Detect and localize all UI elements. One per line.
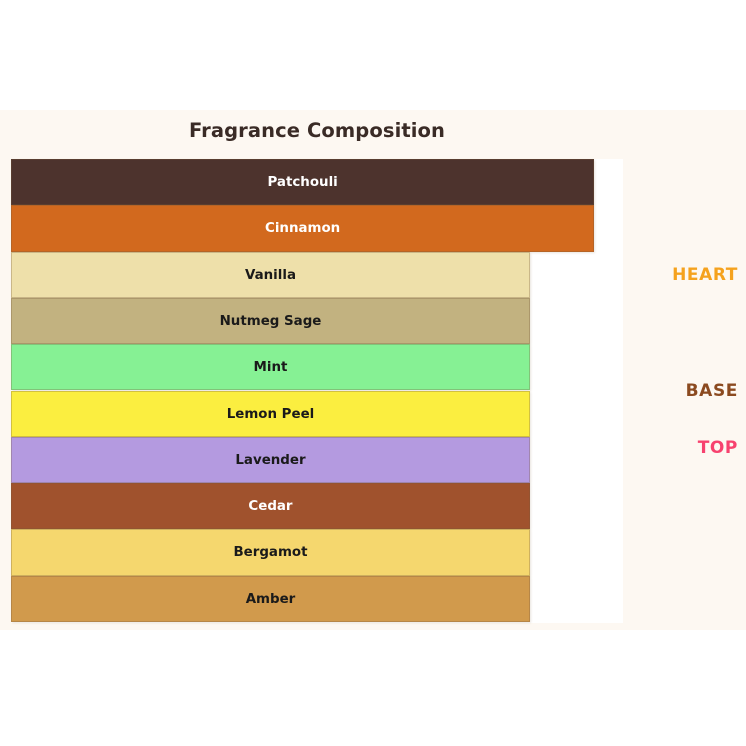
bar-row[interactable]: Lemon Peel (11, 391, 623, 437)
bar-vanilla[interactable]: Vanilla (11, 252, 530, 298)
bar-label: Amber (12, 577, 529, 621)
chart-figure: Fragrance Composition PatchouliCinnamonV… (0, 110, 746, 630)
note-label-base: BASE (686, 381, 738, 401)
bar-row[interactable]: Amber (11, 576, 623, 622)
bar-label: Vanilla (12, 253, 529, 297)
bar-label: Bergamot (12, 530, 529, 574)
bar-lavender[interactable]: Lavender (11, 437, 530, 483)
bar-row[interactable]: Patchouli (11, 159, 623, 205)
bar-row[interactable]: Vanilla (11, 252, 623, 298)
bar-nutmeg-sage[interactable]: Nutmeg Sage (11, 298, 530, 344)
bar-label: Cinnamon (12, 206, 593, 250)
bar-row[interactable]: Cinnamon (11, 205, 623, 251)
bar-bergamot[interactable]: Bergamot (11, 529, 530, 575)
bar-label: Patchouli (12, 160, 593, 204)
bar-row[interactable]: Mint (11, 344, 623, 390)
bar-label: Lemon Peel (12, 392, 529, 436)
bar-lemon-peel[interactable]: Lemon Peel (11, 391, 530, 437)
bar-row[interactable]: Cedar (11, 483, 623, 529)
bar-label: Lavender (12, 438, 529, 482)
bar-cinnamon[interactable]: Cinnamon (11, 205, 594, 251)
bar-label: Mint (12, 345, 529, 389)
bar-amber[interactable]: Amber (11, 576, 530, 622)
bar-row[interactable]: Nutmeg Sage (11, 298, 623, 344)
bar-mint[interactable]: Mint (11, 344, 530, 390)
page-title: Fragrance Composition (0, 119, 634, 142)
plot-area: PatchouliCinnamonVanillaNutmeg SageMintL… (11, 159, 623, 623)
bar-cedar[interactable]: Cedar (11, 483, 530, 529)
bar-row[interactable]: Lavender (11, 437, 623, 483)
bar-label: Cedar (12, 484, 529, 528)
bar-patchouli[interactable]: Patchouli (11, 159, 594, 205)
bar-row[interactable]: Bergamot (11, 529, 623, 575)
note-label-heart: HEART (672, 265, 738, 285)
note-label-top: TOP (698, 438, 738, 458)
bar-label: Nutmeg Sage (12, 299, 529, 343)
